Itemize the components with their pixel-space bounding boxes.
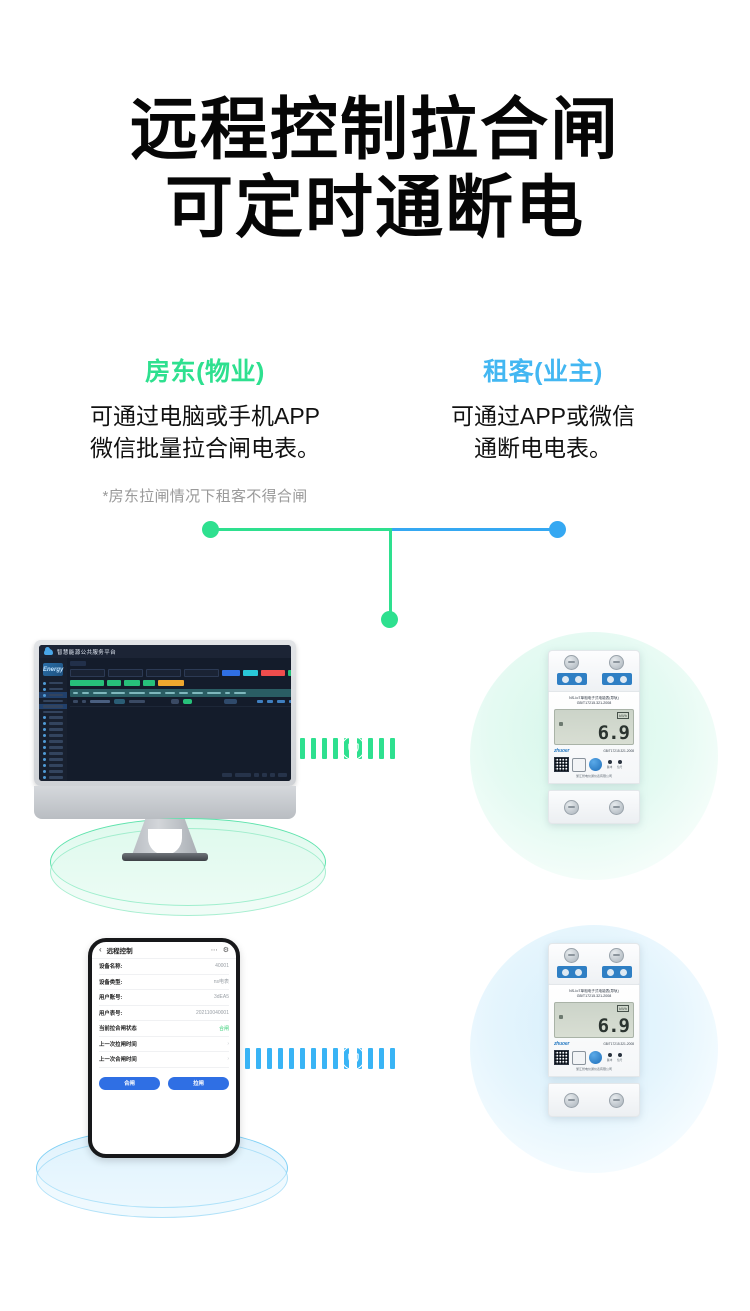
qr-code-icon bbox=[554, 1050, 569, 1065]
lcd-unit: kWh bbox=[617, 1005, 629, 1012]
meter-brand-row: zhuoer GB/T17215.321-2008 bbox=[554, 1041, 634, 1047]
dot-icon bbox=[43, 776, 46, 779]
connector-dot-bottom bbox=[381, 611, 398, 628]
tenant-body: 可通过APP或微信 通断电电表。 bbox=[378, 400, 708, 464]
meter-model: GB/T17215.321-2008 bbox=[603, 1042, 634, 1046]
tag-offline-button[interactable] bbox=[124, 680, 140, 686]
led-icon bbox=[608, 1053, 612, 1057]
screw-icon bbox=[564, 800, 579, 815]
open-switch-button[interactable]: 拉闸 bbox=[168, 1077, 229, 1090]
meter-top-terminals bbox=[548, 650, 640, 692]
row-key: 用户账号: bbox=[99, 993, 122, 1001]
list-item[interactable]: 用户账号: 3dEA5 bbox=[99, 990, 229, 1006]
meter-control-row: 脉冲 信号 bbox=[554, 1050, 634, 1065]
landlord-body: 可通过电脑或手机APP 微信批量拉合闸电表。 bbox=[40, 400, 370, 464]
terminal-block bbox=[557, 966, 587, 978]
dot-icon bbox=[43, 688, 46, 691]
led-icon bbox=[618, 760, 622, 764]
screw-icon bbox=[564, 948, 579, 963]
energy-meter-top: NS-IoT单相电子式电能表(导轨) GB/T17215.321-2008 kW… bbox=[548, 650, 640, 824]
dashboard-sidebar[interactable]: Energy bbox=[39, 658, 67, 781]
cloud-transfer-green bbox=[300, 718, 480, 778]
filter-select[interactable] bbox=[108, 669, 143, 677]
screw-icon bbox=[564, 1093, 579, 1108]
meter-brand-row: zhuoer GB/T17215.321-2008 bbox=[554, 748, 634, 754]
table-row[interactable] bbox=[70, 697, 291, 707]
row-value: ns电表 bbox=[214, 978, 229, 985]
dot-icon bbox=[43, 770, 46, 773]
role-column-landlord: 房东(物业) 可通过电脑或手机APP 微信批量拉合闸电表。 bbox=[40, 352, 370, 464]
phone-header: ‹ 远程控制 ⋯ ⚙ bbox=[92, 942, 236, 959]
lcd-indicator-icon bbox=[559, 1015, 563, 1019]
meter-led-group: 脉冲 信号 bbox=[607, 1053, 622, 1062]
role-column-tenant: 租客(业主) 可通过APP或微信 通断电电表。 bbox=[378, 352, 708, 464]
connector-line-stem bbox=[389, 528, 392, 618]
row-key: 当前拉合闸状态 bbox=[99, 1024, 137, 1032]
meter-model: GB/T17215.321-2008 bbox=[603, 749, 634, 753]
dashboard-main bbox=[67, 658, 291, 781]
landlord-footnote: *房东拉闸情况下租客不得合闸 bbox=[40, 485, 370, 506]
page-title: 远程控制拉合闸 可定时通断电 bbox=[0, 92, 750, 248]
dot-icon bbox=[43, 752, 46, 755]
row-value bbox=[225, 1041, 229, 1047]
led-label: 信号 bbox=[617, 1058, 622, 1062]
list-item[interactable]: 用户表号: 202110040001 bbox=[99, 1006, 229, 1022]
led-label: 脉冲 bbox=[607, 1058, 612, 1062]
filter-search-button[interactable] bbox=[222, 670, 240, 676]
dashboard-logo: Energy bbox=[43, 663, 63, 676]
desktop-monitor: 智慧能源公共服务平台 Energy bbox=[34, 640, 296, 819]
landlord-body-line-2: 微信批量拉合闸电表。 bbox=[90, 435, 320, 461]
meter-bottom-terminals bbox=[548, 1083, 640, 1117]
meter-face: NS-IoT单相电子式电能表(导轨) GB/T17215.321-2008 kW… bbox=[548, 985, 640, 1077]
energy-meter-bottom: NS-IoT单相电子式电能表(导轨) GB/T17215.321-2008 kW… bbox=[548, 943, 640, 1117]
list-item[interactable]: 设备名称: 40001 bbox=[99, 959, 229, 975]
dashboard-topbar: 智慧能源公共服务平台 bbox=[39, 645, 291, 658]
screw-icon bbox=[609, 948, 624, 963]
terminal-block bbox=[602, 966, 632, 978]
meter-top-terminals bbox=[548, 943, 640, 985]
phone-action-buttons: 合闸 拉闸 bbox=[92, 1068, 236, 1090]
mobile-phone: ‹ 远程控制 ⋯ ⚙ 设备名称: 40001 设备类型: ns电表 用户账号: … bbox=[88, 938, 232, 1158]
dot-icon bbox=[43, 758, 46, 761]
monitor-chin bbox=[34, 786, 296, 819]
dot-icon bbox=[43, 728, 46, 731]
status-badge: 合闸 bbox=[219, 1025, 229, 1032]
status-badge bbox=[183, 699, 192, 704]
monitor-screen: 智慧能源公共服务平台 Energy bbox=[39, 645, 291, 781]
meter-label-line-2: GB/T17215.321-2008 bbox=[554, 701, 634, 706]
monitor-bezel: 智慧能源公共服务平台 Energy bbox=[34, 640, 296, 786]
tag-online-button[interactable] bbox=[107, 680, 121, 686]
meter-lcd: kWh 6.9 bbox=[554, 709, 634, 745]
tenant-body-line-1: 可通过APP或微信 bbox=[451, 403, 635, 429]
connector-diagram bbox=[0, 505, 750, 635]
meter-key-button[interactable] bbox=[572, 758, 586, 772]
list-item[interactable]: 设备类型: ns电表 bbox=[99, 975, 229, 991]
status-badge bbox=[171, 699, 179, 704]
connector-line-right bbox=[390, 528, 560, 531]
meter-face: NS-IoT单相电子式电能表(导轨) GB/T17215.321-2008 kW… bbox=[548, 692, 640, 784]
chevron-left-icon[interactable]: ‹ bbox=[99, 946, 102, 954]
screw-icon bbox=[564, 655, 579, 670]
table-header bbox=[70, 689, 291, 697]
meter-brand: zhuoer bbox=[554, 1041, 569, 1047]
status-badge bbox=[114, 699, 125, 704]
tenant-title: 租客(业主) bbox=[378, 352, 708, 388]
meter-device: NS-IoT单相电子式电能表(导轨) GB/T17215.321-2008 kW… bbox=[548, 943, 640, 1117]
phone-screen: ‹ 远程控制 ⋯ ⚙ 设备名称: 40001 设备类型: ns电表 用户账号: … bbox=[88, 938, 240, 1158]
row-value: 202110040001 bbox=[196, 1010, 229, 1016]
dot-icon bbox=[43, 716, 46, 719]
row-value: 40001 bbox=[215, 963, 229, 969]
tag-alarm-button[interactable] bbox=[143, 680, 155, 686]
table-pagination[interactable] bbox=[87, 772, 287, 778]
meter-led-group: 脉冲 信号 bbox=[607, 760, 622, 769]
meter-key-button[interactable] bbox=[572, 1051, 586, 1065]
more-icon[interactable]: ⋯ bbox=[211, 946, 218, 954]
led-icon bbox=[608, 760, 612, 764]
dot-icon bbox=[43, 740, 46, 743]
dot-icon bbox=[43, 764, 46, 767]
meter-control-row: 脉冲 信号 bbox=[554, 757, 634, 772]
filter-select[interactable] bbox=[184, 669, 219, 677]
landlord-body-line-1: 可通过电脑或手机APP bbox=[90, 403, 320, 429]
row-key: 用户表号: bbox=[99, 1009, 122, 1017]
meter-terminal-row bbox=[549, 673, 639, 685]
phone-detail-list: 设备名称: 40001 设备类型: ns电表 用户账号: 3dEA5 用户表号:… bbox=[92, 959, 236, 1068]
sidebar-item[interactable] bbox=[39, 781, 67, 782]
headline-line-2: 可定时通断电 bbox=[0, 170, 750, 248]
shield-icon bbox=[341, 736, 365, 760]
dashboard-title: 智慧能源公共服务平台 bbox=[57, 648, 116, 656]
status-badge bbox=[224, 699, 237, 704]
meter-label-line-2: GB/T17215.321-2008 bbox=[554, 994, 634, 999]
cloud-logo-icon bbox=[44, 649, 53, 655]
gear-icon[interactable]: ⚙ bbox=[223, 946, 229, 954]
filter-select[interactable] bbox=[146, 669, 181, 677]
dot-icon bbox=[43, 722, 46, 725]
row-key: 设备类型: bbox=[99, 978, 122, 986]
cloud-transfer-blue bbox=[245, 1028, 480, 1088]
connector-dot-left bbox=[202, 521, 219, 538]
qr-code-icon bbox=[554, 757, 569, 772]
connector-dot-right bbox=[549, 521, 566, 538]
tenant-body-line-2: 通断电电表。 bbox=[474, 435, 612, 461]
led-icon bbox=[618, 1053, 622, 1057]
phone-page-title: 远程控制 bbox=[107, 945, 206, 955]
tag-arrears-button[interactable] bbox=[158, 680, 184, 686]
terminal-block bbox=[602, 673, 632, 685]
dash-group-left bbox=[245, 1048, 349, 1069]
row-value bbox=[225, 1056, 229, 1062]
led-label: 脉冲 bbox=[607, 765, 612, 769]
batch-open-button[interactable] bbox=[261, 670, 285, 676]
lcd-value: 6.9 bbox=[598, 1017, 629, 1036]
tag-all-button[interactable] bbox=[70, 680, 104, 686]
landlord-title: 房东(物业) bbox=[40, 352, 370, 388]
filter-reset-button[interactable] bbox=[243, 670, 258, 676]
screw-icon bbox=[609, 655, 624, 670]
dot-icon bbox=[43, 746, 46, 749]
dashboard-logo-text: Energy bbox=[43, 667, 63, 673]
lcd-value: 6.9 bbox=[598, 724, 629, 743]
list-item[interactable]: 当前拉合闸状态 合闸 bbox=[99, 1021, 229, 1037]
meter-round-button[interactable] bbox=[589, 758, 602, 771]
dashboard-tag-row bbox=[70, 680, 291, 686]
dot-icon bbox=[43, 734, 46, 737]
row-key: 上一次合闸时间 bbox=[99, 1055, 137, 1063]
list-item[interactable]: 上一次拉闸时间 bbox=[99, 1037, 229, 1053]
lcd-unit: kWh bbox=[617, 712, 629, 719]
monitor-stand-base bbox=[122, 853, 208, 861]
close-switch-button[interactable]: 合闸 bbox=[99, 1077, 160, 1090]
dashboard-tab[interactable] bbox=[70, 661, 86, 666]
list-item[interactable]: 上一次合闸时间 bbox=[99, 1052, 229, 1068]
filter-select[interactable] bbox=[70, 669, 105, 677]
connector-line-left bbox=[210, 528, 390, 531]
dashboard-body: Energy bbox=[39, 658, 291, 781]
meter-terminal-row bbox=[549, 966, 639, 978]
led-label: 信号 bbox=[617, 765, 622, 769]
screw-icon bbox=[609, 800, 624, 815]
meter-brand: zhuoer bbox=[554, 748, 569, 754]
dashboard-filter-row bbox=[70, 669, 291, 677]
row-key: 设备名称: bbox=[99, 962, 122, 970]
dot-icon bbox=[43, 694, 46, 697]
dot-icon bbox=[43, 682, 46, 685]
screw-icon bbox=[609, 1093, 624, 1108]
batch-close-button[interactable] bbox=[288, 670, 291, 676]
row-value: 3dEA5 bbox=[214, 994, 229, 1000]
headline-line-1: 远程控制拉合闸 bbox=[0, 92, 750, 170]
shield-icon bbox=[341, 1046, 365, 1070]
lcd-indicator-icon bbox=[559, 722, 563, 726]
poster-canvas: 远程控制拉合闸 可定时通断电 房东(物业) 可通过电脑或手机APP 微信批量拉合… bbox=[0, 0, 750, 1311]
meter-round-button[interactable] bbox=[589, 1051, 602, 1064]
meter-screw-row bbox=[549, 651, 639, 670]
row-key: 上一次拉闸时间 bbox=[99, 1040, 137, 1048]
meter-lcd: kWh 6.9 bbox=[554, 1002, 634, 1038]
meter-device: NS-IoT单相电子式电能表(导轨) GB/T17215.321-2008 kW… bbox=[548, 650, 640, 824]
terminal-block bbox=[557, 673, 587, 685]
meter-screw-row bbox=[549, 944, 639, 963]
meter-company: 浙江智电仪通仪表有限公司 bbox=[554, 774, 634, 778]
meter-company: 浙江智电仪通仪表有限公司 bbox=[554, 1067, 634, 1071]
meter-bottom-terminals bbox=[548, 790, 640, 824]
